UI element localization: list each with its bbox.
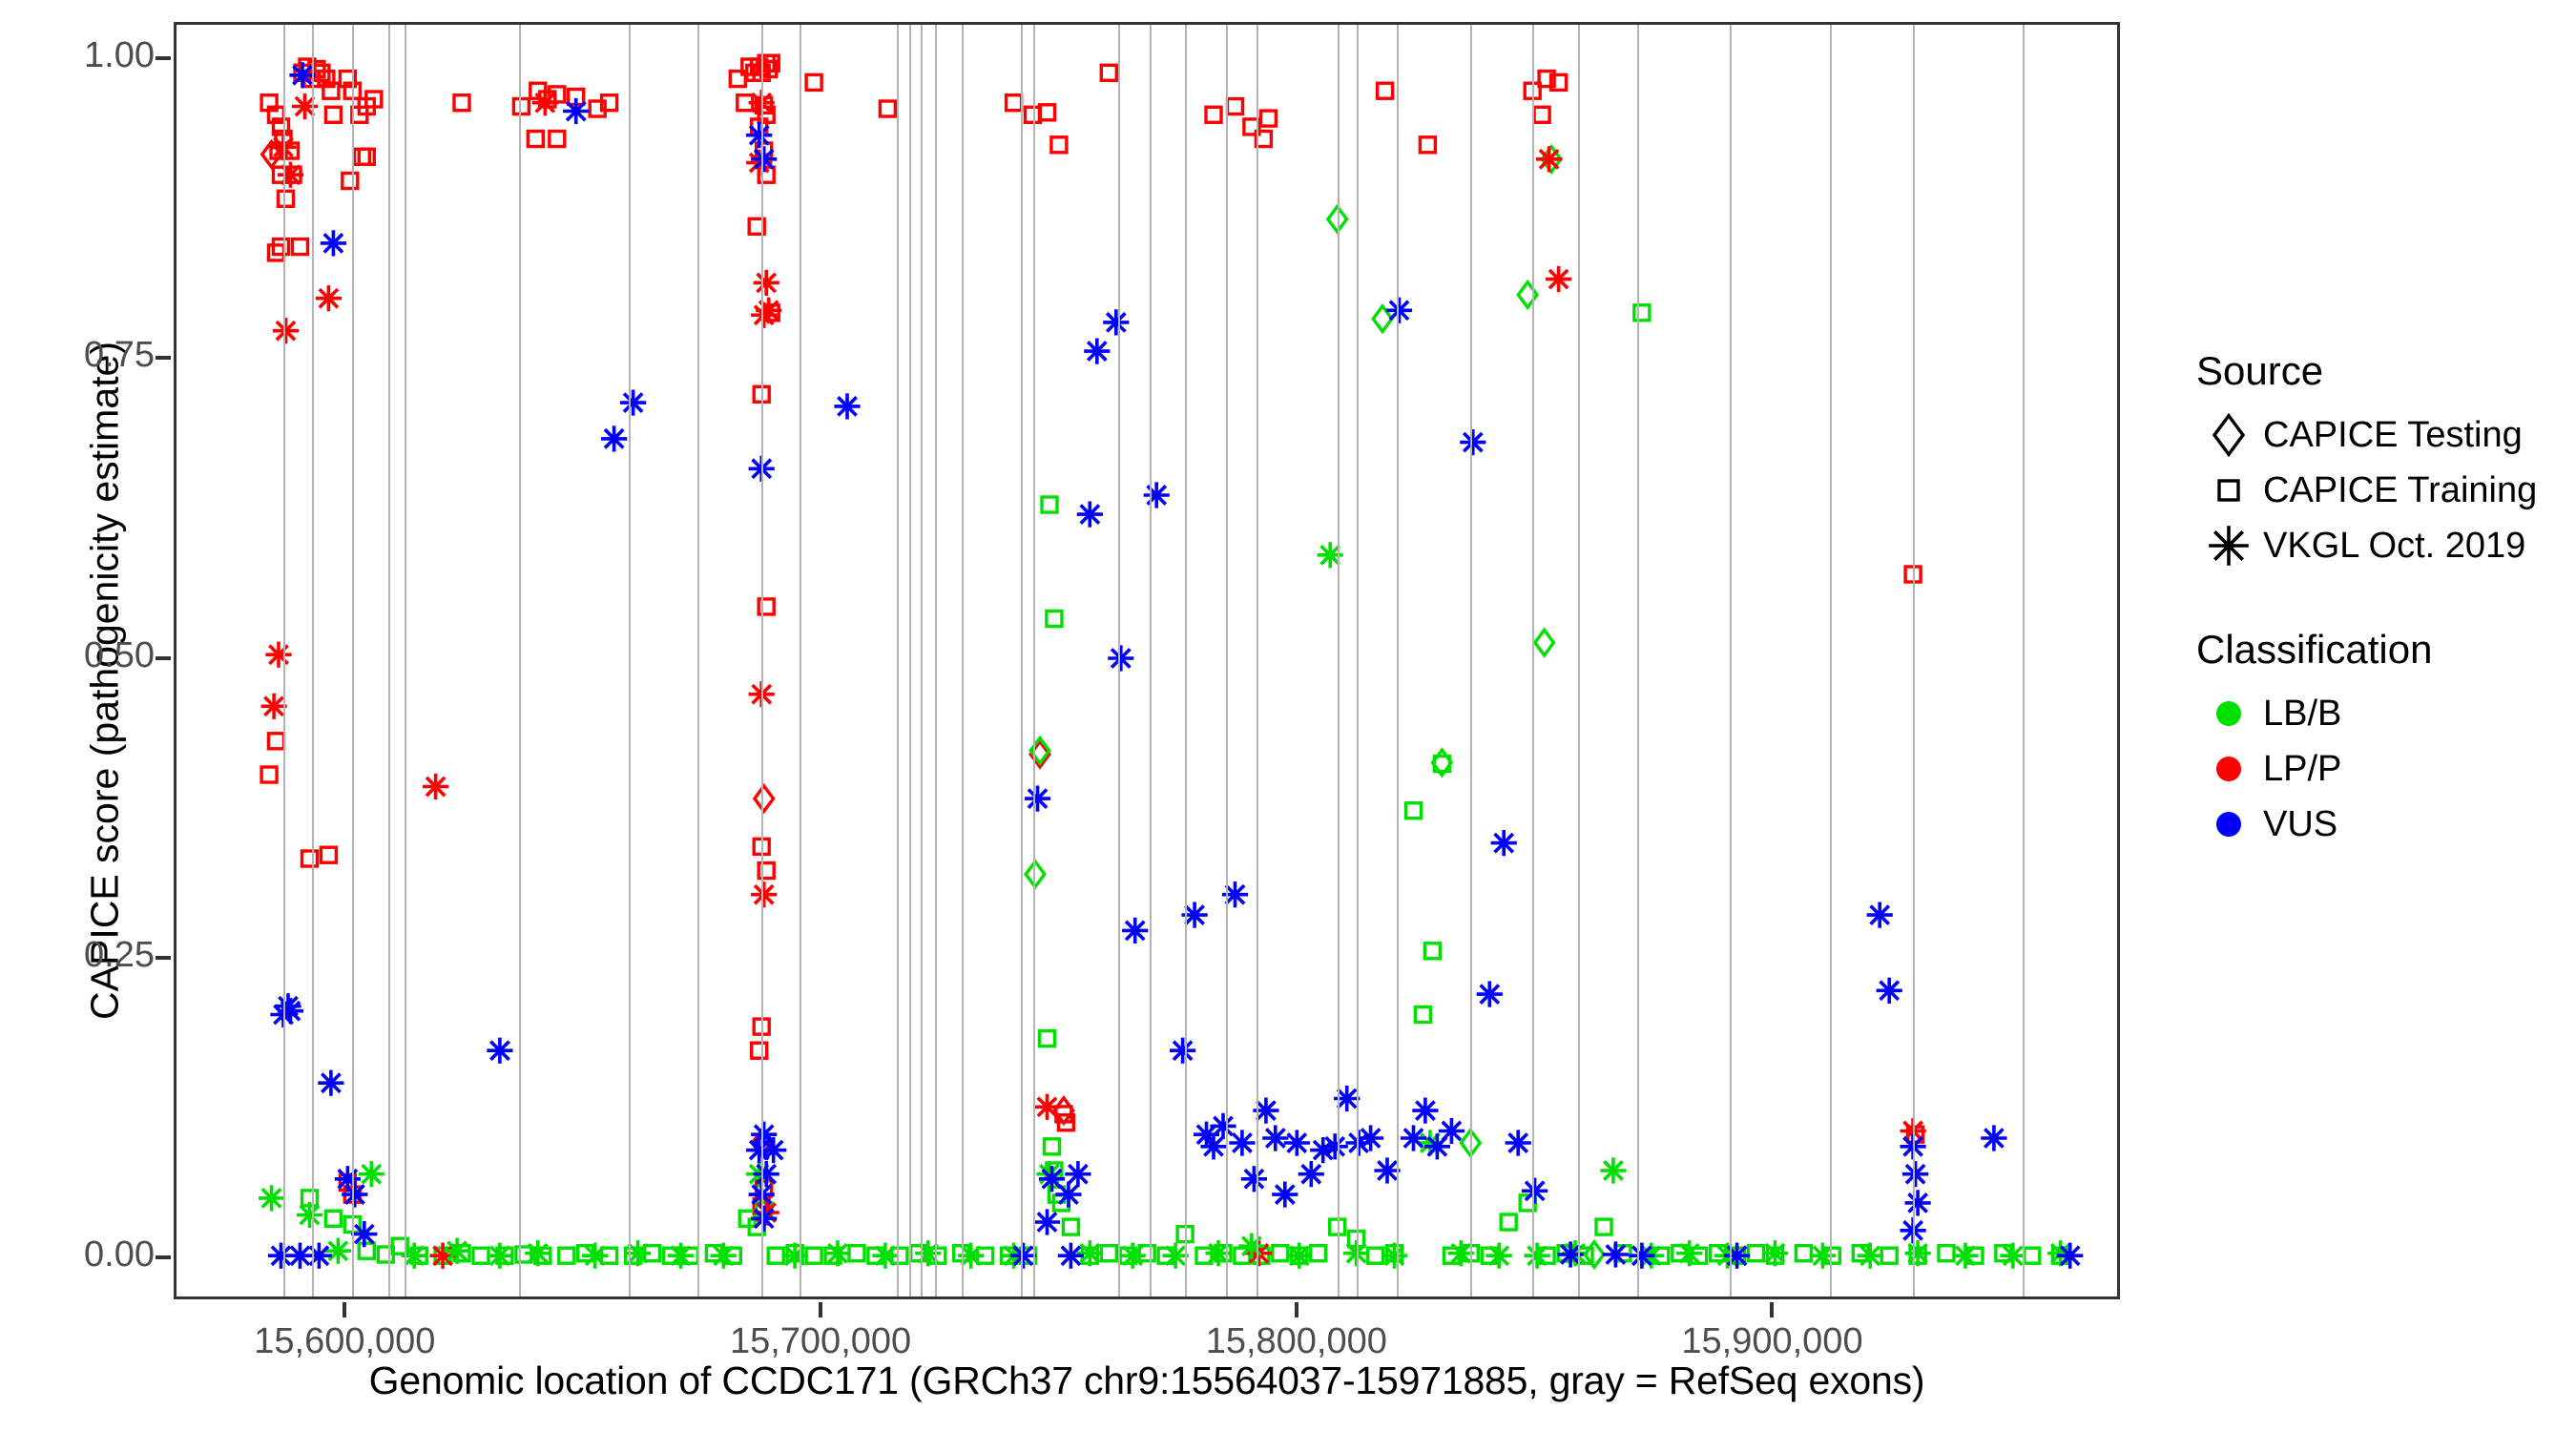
legend-label: CAPICE Testing [2263, 415, 2523, 456]
legend-item-vus[interactable]: VUS [2194, 797, 2576, 852]
legend-item-lp-p[interactable]: LP/P [2194, 741, 2576, 797]
exon-line-5 [519, 25, 521, 1296]
y-tick-mark-0 [156, 1255, 171, 1259]
legend: SourceCAPICE TestingCAPICE TrainingVKGL … [2194, 348, 2576, 905]
exon-line-24 [1397, 25, 1399, 1296]
x-tick-mark-1 [819, 1302, 822, 1317]
x-axis-title: Genomic location of CCDC171 (GRCh37 chr9… [174, 1358, 2120, 1403]
legend-item-lb-b[interactable]: LB/B [2194, 686, 2576, 741]
series-2 [262, 142, 1073, 1156]
source-legend: SourceCAPICE TestingCAPICE TrainingVKGL … [2194, 348, 2576, 573]
legend-item-capice-training[interactable]: CAPICE Training [2194, 463, 2576, 518]
exon-line-12 [921, 25, 923, 1296]
square-icon [2194, 467, 2263, 513]
x-tick-mark-0 [343, 1302, 346, 1317]
exon-line-29 [1730, 25, 1732, 1296]
exon-line-25 [1470, 25, 1472, 1296]
classification-legend-title: Classification [2196, 627, 2576, 673]
y-axis-title: CAPICE score (pathogenicity estimate) [83, 42, 128, 1320]
x-tick-label-1: 15,700,000 [658, 1321, 983, 1362]
y-tick-mark-4 [156, 56, 171, 60]
exon-line-0 [283, 25, 285, 1296]
x-tick-mark-3 [1770, 1302, 1774, 1317]
legend-label: VUS [2263, 804, 2337, 845]
series-5 [261, 90, 1926, 1269]
exon-line-2 [352, 25, 354, 1296]
circle-icon [2194, 691, 2263, 736]
exon-line-31 [1913, 25, 1915, 1296]
exon-line-28 [1637, 25, 1639, 1296]
asterisk-icon [2194, 523, 2263, 569]
exon-line-9 [800, 25, 801, 1296]
exon-line-3 [388, 25, 390, 1296]
exon-line-20 [1226, 25, 1228, 1296]
exon-line-4 [405, 25, 406, 1296]
exon-line-13 [935, 25, 937, 1296]
x-tick-label-3: 15,900,000 [1610, 1321, 1934, 1362]
series-6 [259, 542, 2073, 1269]
series-3 [1026, 147, 1604, 1268]
y-tick-mark-2 [156, 656, 171, 660]
exon-line-21 [1257, 25, 1258, 1296]
exon-line-1 [312, 25, 314, 1296]
circle-icon [2194, 801, 2263, 847]
exon-line-18 [1150, 25, 1152, 1296]
legend-label: VKGL Oct. 2019 [2263, 526, 2525, 567]
y-tick-label-0: 0.00 [0, 1234, 155, 1275]
exon-line-11 [909, 25, 911, 1296]
exon-line-14 [962, 25, 964, 1296]
exon-line-22 [1338, 25, 1340, 1296]
exon-line-27 [1578, 25, 1580, 1296]
legend-label: LP/P [2263, 749, 2341, 790]
exon-line-19 [1185, 25, 1187, 1296]
source-legend-title: Source [2196, 348, 2576, 394]
y-tick-mark-1 [156, 956, 171, 960]
data-points-layer [177, 25, 2117, 1296]
legend-label: CAPICE Training [2263, 470, 2537, 511]
exon-line-7 [697, 25, 699, 1296]
plot-root: CAPICE score (pathogenicity estimate) 0.… [0, 0, 2576, 1431]
y-tick-label-4: 1.00 [0, 35, 155, 76]
series-7 [268, 62, 2083, 1269]
circle-icon [2194, 746, 2263, 792]
exon-line-10 [897, 25, 899, 1296]
plot-panel [174, 22, 2120, 1299]
exon-line-15 [1021, 25, 1023, 1296]
y-tick-label-1: 0.25 [0, 935, 155, 976]
series-0 [261, 55, 1923, 1214]
legend-item-capice-testing[interactable]: CAPICE Testing [2194, 407, 2576, 463]
legend-item-vkgl-oct-2019[interactable]: VKGL Oct. 2019 [2194, 518, 2576, 573]
x-tick-label-0: 15,600,000 [182, 1321, 507, 1362]
exon-line-26 [1532, 25, 1534, 1296]
x-tick-label-2: 15,800,000 [1134, 1321, 1459, 1362]
exon-line-23 [1357, 25, 1359, 1296]
legend-label: LB/B [2263, 694, 2341, 735]
x-tick-mark-2 [1295, 1302, 1298, 1317]
classification-legend: ClassificationLB/BLP/PVUS [2194, 627, 2576, 852]
exon-line-32 [2023, 25, 2025, 1296]
y-tick-label-3: 0.75 [0, 335, 155, 376]
exon-line-16 [1033, 25, 1035, 1296]
exon-line-30 [1830, 25, 1832, 1296]
exon-line-17 [1118, 25, 1120, 1296]
diamond-icon [2194, 412, 2263, 458]
exon-line-8 [761, 25, 763, 1296]
exon-line-6 [629, 25, 631, 1296]
y-tick-mark-3 [156, 356, 171, 360]
y-tick-label-2: 0.50 [0, 635, 155, 676]
